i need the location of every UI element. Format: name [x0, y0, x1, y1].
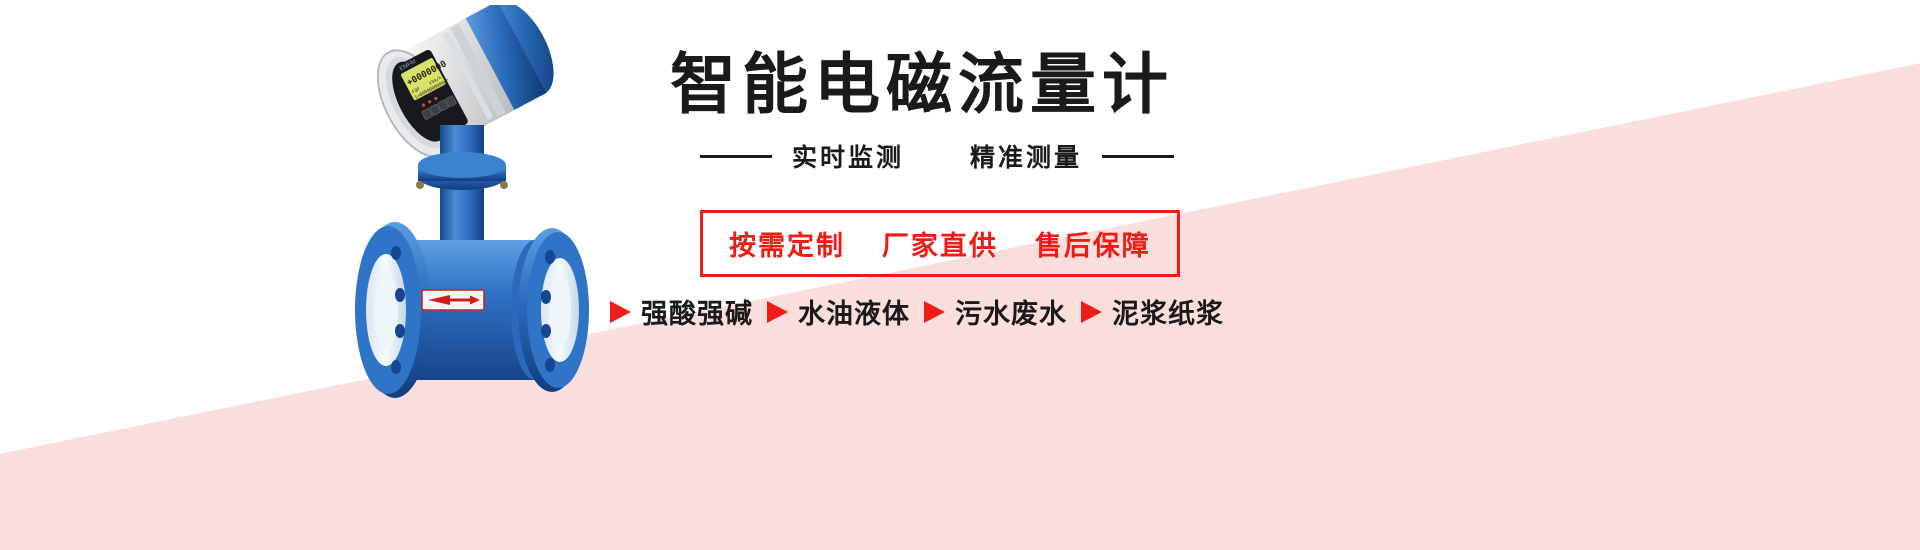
triangle-right-icon — [767, 301, 788, 323]
feature-label: 污水废水 — [955, 292, 1067, 331]
promo-item-1: 按需定制 — [729, 231, 845, 261]
triangle-right-icon — [610, 301, 631, 323]
promo-item-3: 售后保障 — [1035, 231, 1151, 261]
subtitle-right: 精准测量 — [970, 138, 1082, 174]
subtitle-rule-left — [700, 155, 772, 158]
feature-label: 强酸强碱 — [641, 292, 753, 331]
product-banner: +0000000 FQP x1m/h Σ+0000000000m³ EMFM — [0, 0, 1920, 550]
subtitle-left: 实时监测 — [792, 138, 904, 174]
list-item: 污水废水 — [924, 292, 1067, 331]
triangle-right-icon — [924, 301, 945, 323]
triangle-right-icon — [1081, 301, 1102, 323]
list-item: 水油液体 — [767, 292, 910, 331]
page-title: 智能电磁流量计 — [670, 48, 1174, 121]
subtitle-row: 实时监测 精准测量 — [700, 138, 1174, 174]
flowmeter-product-image: +0000000 FQP x1m/h Σ+0000000000m³ EMFM — [300, 5, 630, 425]
promo-badge-box: 按需定制 厂家直供 售后保障 — [700, 210, 1180, 277]
feature-label: 泥浆纸浆 — [1112, 292, 1224, 331]
list-item: 强酸强碱 — [610, 292, 753, 331]
promo-item-2: 厂家直供 — [882, 231, 998, 261]
subtitle-rule-right — [1102, 155, 1174, 158]
banner-content: 智能电磁流量计 实时监测 精准测量 按需定制 厂家直供 售后保障 强酸强碱 水油… — [600, 0, 1600, 550]
list-item: 泥浆纸浆 — [1081, 292, 1224, 331]
feature-label: 水油液体 — [798, 292, 910, 331]
feature-list: 强酸强碱 水油液体 污水废水 泥浆纸浆 — [610, 292, 1224, 331]
